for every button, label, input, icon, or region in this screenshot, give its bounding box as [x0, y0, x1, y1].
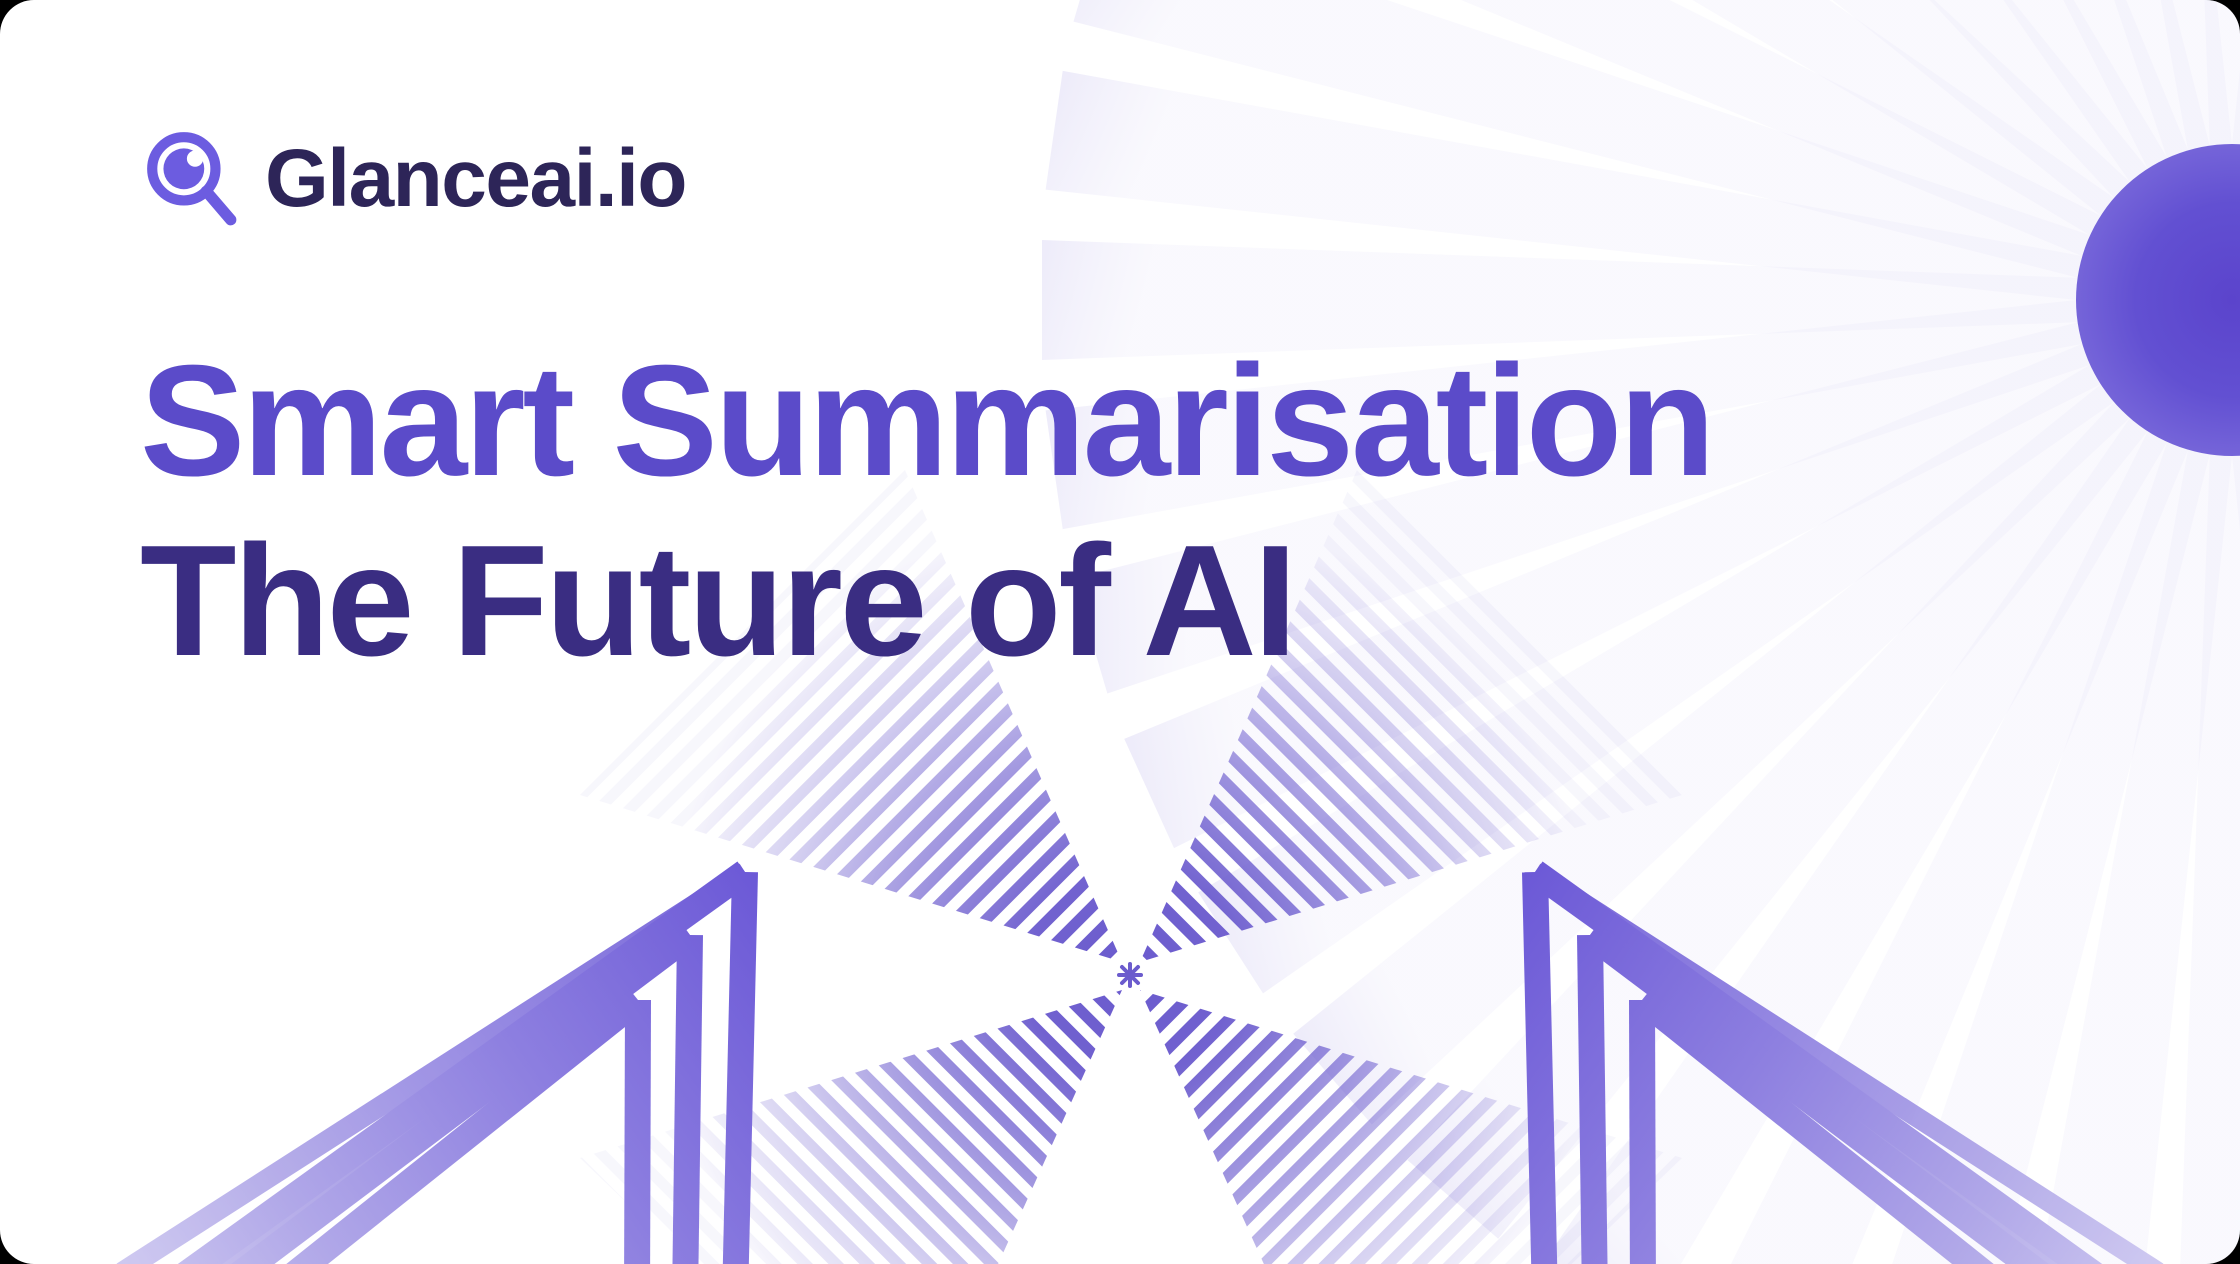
magnifier-eye-icon — [141, 128, 243, 230]
headline-line-secondary: The Future of AI — [140, 522, 1620, 680]
page-title: Smart Summarisation The Future of AI — [140, 342, 1620, 680]
banner-content: Glanceai.io Smart Summarisation The Futu… — [0, 0, 2240, 1264]
promo-banner-card: Glanceai.io Smart Summarisation The Futu… — [0, 0, 2240, 1264]
brand-wordmark: Glanceai.io — [265, 138, 686, 220]
headline-line-primary: Smart Summarisation — [140, 342, 1620, 500]
brand-logo-lockup[interactable]: Glanceai.io — [141, 128, 686, 230]
